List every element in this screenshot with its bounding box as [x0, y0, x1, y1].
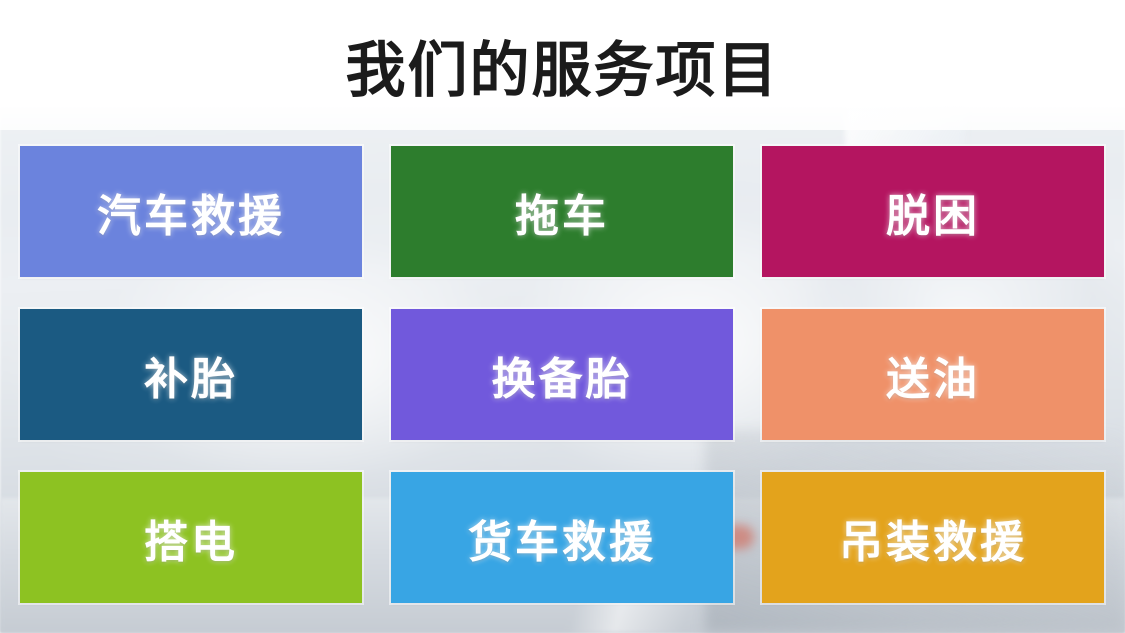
service-tile-label: 脱困	[886, 180, 980, 244]
service-tile-label: 汽车救援	[97, 180, 285, 244]
service-tile-label: 搭电	[144, 506, 238, 570]
service-tile-label: 送油	[886, 343, 980, 407]
service-tile-tire-repair[interactable]: 补胎	[20, 309, 362, 440]
service-tile-tow-truck[interactable]: 拖车	[391, 146, 733, 277]
page-title: 我们的服务项目	[346, 29, 780, 101]
service-tile-label: 吊装救援	[839, 506, 1027, 570]
service-tile-label: 货车救援	[468, 506, 656, 570]
service-tile-hoisting-rescue[interactable]: 吊装救援	[762, 472, 1104, 603]
service-tile-truck-rescue[interactable]: 货车救援	[391, 472, 733, 603]
title-band: 我们的服务项目	[0, 0, 1125, 130]
service-tile-car-rescue[interactable]: 汽车救援	[20, 146, 362, 277]
service-tile-label: 拖车	[515, 180, 609, 244]
service-tile-label: 换备胎	[492, 343, 633, 407]
service-tile-grid: 汽车救援 拖车 脱困 补胎 换备胎 送油 搭电 货车救援 吊装救援	[20, 146, 1103, 602]
service-tile-fuel-delivery[interactable]: 送油	[762, 309, 1104, 440]
service-tile-jump-start[interactable]: 搭电	[20, 472, 362, 603]
service-tile-spare-tire-change[interactable]: 换备胎	[391, 309, 733, 440]
service-tile-label: 补胎	[144, 343, 238, 407]
service-tile-extrication[interactable]: 脱困	[762, 146, 1104, 277]
service-poster: 我们的服务项目 汽车救援 拖车 脱困 补胎 换备胎 送油 搭电 货车救援 吊装救…	[0, 0, 1125, 633]
